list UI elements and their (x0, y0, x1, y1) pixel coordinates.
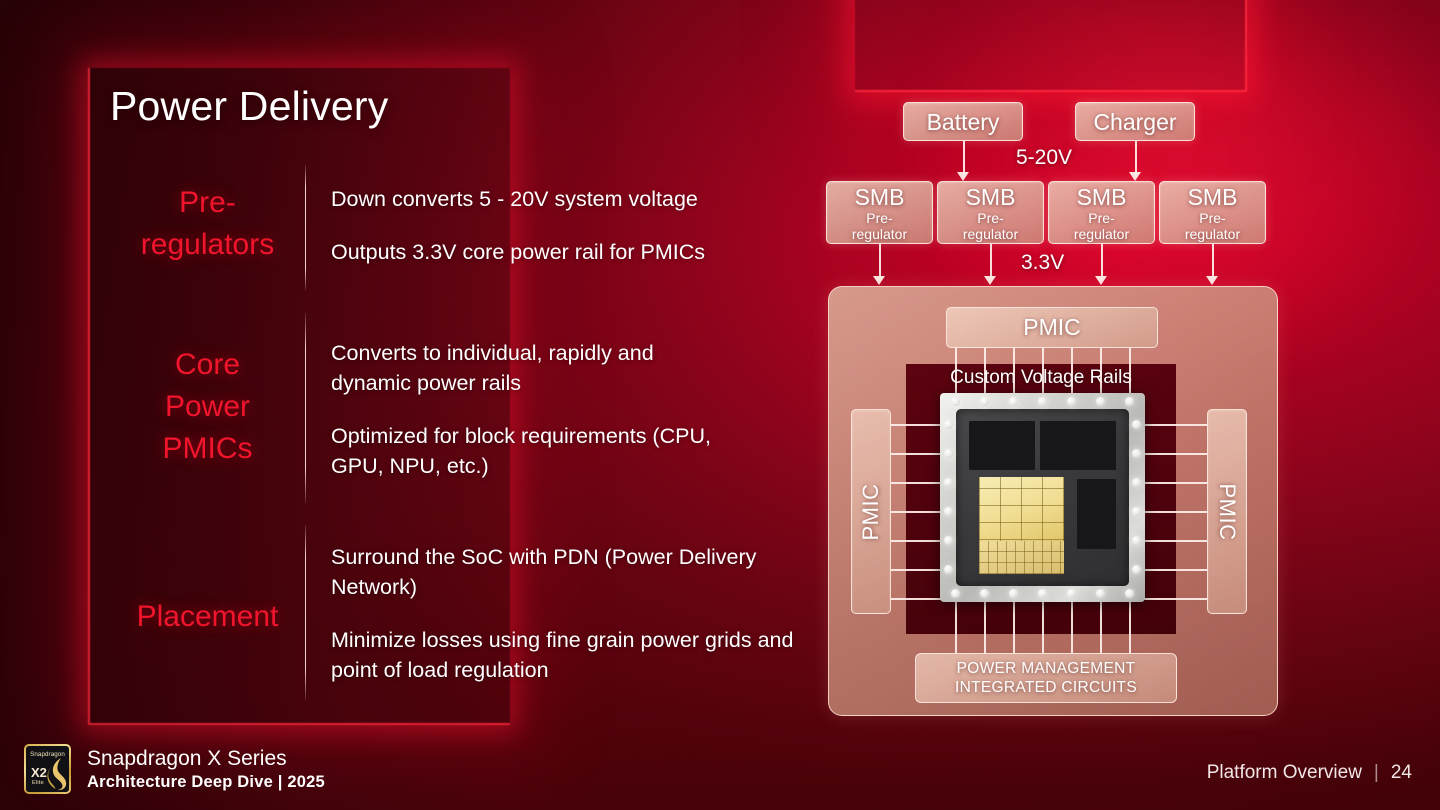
power-delivery-diagram: Battery Charger 5-20V SMB Pre-regulator … (818, 96, 1288, 716)
section-body-placement: Surround the SoC with PDN (Power Deliver… (331, 542, 796, 685)
soc-pad (1067, 589, 1076, 598)
rail-left-3 (891, 482, 947, 484)
soc-pad (951, 589, 960, 598)
arrow-battery-to-smb (957, 172, 969, 181)
bullet-text: Surround the SoC with PDN (Power Deliver… (331, 542, 796, 602)
rail-right-7 (1141, 598, 1207, 600)
wire-smb3-to-pkg (1101, 244, 1103, 278)
diagram-node-pmic-bottom: POWER MANAGEMENT INTEGRATED CIRCUITS (915, 653, 1177, 703)
soc-pad (1038, 397, 1047, 406)
voltage-label-output: 3.3V (1021, 251, 1064, 275)
soc-pad (944, 478, 953, 487)
dragon-flame-icon (45, 757, 67, 791)
soc-pad (944, 565, 953, 574)
logo-tier: Elite (32, 780, 44, 786)
soc-pad (1132, 449, 1141, 458)
soc-pad (980, 397, 989, 406)
slide-root: Power Delivery Pre-regulators Down conve… (0, 0, 1440, 810)
node-label: SMB (966, 184, 1016, 210)
bullet-text: Down converts 5 - 20V system voltage (331, 184, 801, 214)
arrow-smb1-to-pkg (873, 276, 885, 285)
brand-line-1: Snapdragon X Series (87, 746, 325, 771)
rail-bottom-2 (984, 596, 986, 654)
diagram-node-pmic-left: PMIC (851, 409, 891, 614)
soc-pad (944, 536, 953, 545)
soc-pad (944, 449, 953, 458)
footer-brand-text: Snapdragon X Series Architecture Deep Di… (87, 746, 325, 793)
diagram-node-pmic-top: PMIC (946, 307, 1158, 348)
rail-right-1 (1141, 424, 1207, 426)
rail-right-3 (1141, 482, 1207, 484)
die-block-gold-sub (979, 541, 1064, 574)
rail-right-2 (1141, 453, 1207, 455)
soc-pad (1125, 397, 1134, 406)
node-sublabel: Pre-regulator (1074, 210, 1129, 242)
diagram-node-smb-3: SMB Pre-regulator (1048, 181, 1155, 244)
rail-bottom-7 (1129, 596, 1131, 654)
diagram-node-smb-1: SMB Pre-regulator (826, 181, 933, 244)
brand-line-2: Architecture Deep Dive | 2025 (87, 771, 325, 793)
rail-bottom-5 (1071, 596, 1073, 654)
node-sublabel: Pre-regulator (963, 210, 1018, 242)
soc-pad (1125, 589, 1134, 598)
section-body-pre-regulators: Down converts 5 - 20V system voltage Out… (331, 184, 801, 267)
rail-right-5 (1141, 540, 1207, 542)
arrow-smb2-to-pkg (984, 276, 996, 285)
soc-pad (1009, 397, 1018, 406)
logo-inner: Snapdragon X2 Elite (26, 746, 69, 792)
die-block-npu (1077, 479, 1116, 549)
bullet-text: Outputs 3.3V core power rail for PMICs (331, 237, 801, 267)
section-body-core-power-pmics: Converts to individual, rapidly and dyna… (331, 338, 731, 481)
pmic-bottom-line1: POWER MANAGEMENT (957, 659, 1136, 678)
soc-pad (944, 507, 953, 516)
rail-right-4 (1141, 511, 1207, 513)
rail-left-2 (891, 453, 947, 455)
soc-pad (980, 589, 989, 598)
node-label: Charger (1093, 109, 1176, 135)
node-label: Battery (927, 109, 1000, 135)
soc-pad (1132, 565, 1141, 574)
soc-pad (951, 397, 960, 406)
soc-pad (1132, 420, 1141, 429)
soc-pad (1132, 507, 1141, 516)
arrow-charger-to-smb (1129, 172, 1141, 181)
die-block-cpu-cluster-2 (1040, 421, 1116, 470)
diagram-node-pmic-right: PMIC (1207, 409, 1247, 614)
soc-pad (1096, 397, 1105, 406)
rail-left-1 (891, 424, 947, 426)
bullet-text: Minimize losses using fine grain power g… (331, 625, 796, 685)
diagram-node-battery: Battery (903, 102, 1023, 141)
section-divider-3 (305, 525, 306, 700)
diagram-node-smb-2: SMB Pre-regulator (937, 181, 1044, 244)
section-divider-2 (305, 313, 306, 503)
soc-pad (1132, 536, 1141, 545)
rail-left-7 (891, 598, 947, 600)
section-label-placement: Placement (100, 596, 315, 638)
section-label-pre-regulators: Pre-regulators (100, 182, 315, 266)
arrow-smb3-to-pkg (1095, 276, 1107, 285)
soc-pad (944, 420, 953, 429)
soc-die (956, 409, 1129, 586)
node-label: PMIC (1214, 483, 1240, 540)
node-label: SMB (855, 184, 905, 210)
footer-separator: | (1374, 762, 1379, 784)
rail-left-5 (891, 540, 947, 542)
soc-pad (1132, 478, 1141, 487)
section-label-core-power-pmics: CorePowerPMICs (100, 344, 315, 470)
diagram-node-charger: Charger (1075, 102, 1195, 141)
rail-left-6 (891, 569, 947, 571)
custom-voltage-rails-label: Custom Voltage Rails (906, 367, 1176, 389)
wire-charger-to-smb (1135, 141, 1137, 175)
node-label: SMB (1188, 184, 1238, 210)
footer-section-name: Platform Overview (1207, 762, 1362, 784)
footer-brand: Snapdragon X2 Elite Snapdragon X Series … (24, 744, 325, 794)
page-number: 24 (1391, 762, 1412, 784)
rail-bottom-3 (1013, 596, 1015, 654)
soc-package (940, 393, 1145, 602)
diagram-node-smb-4: SMB Pre-regulator (1159, 181, 1266, 244)
rail-bottom-4 (1042, 596, 1044, 654)
bullet-text: Optimized for block requirements (CPU, G… (331, 421, 731, 481)
footer-meta: Platform Overview | 24 (1207, 762, 1412, 784)
wire-battery-to-smb (963, 141, 965, 175)
rail-left-4 (891, 511, 947, 513)
bullet-text: Converts to individual, rapidly and dyna… (331, 338, 731, 398)
node-sublabel: Pre-regulator (1185, 210, 1240, 242)
arrow-smb4-to-pkg (1206, 276, 1218, 285)
soc-pad (1067, 397, 1076, 406)
snapdragon-logo-icon: Snapdragon X2 Elite (24, 744, 71, 794)
rail-bottom-1 (955, 596, 957, 654)
section-divider-1 (305, 165, 306, 290)
voltage-label-input: 5-20V (1016, 146, 1072, 170)
node-label: PMIC (858, 483, 884, 540)
node-sublabel: Pre-regulator (852, 210, 907, 242)
pmic-bottom-line2: INTEGRATED CIRCUITS (955, 678, 1137, 697)
soc-pad (1009, 589, 1018, 598)
page-title: Power Delivery (110, 83, 389, 130)
soc-pad (1096, 589, 1105, 598)
soc-pad (1038, 589, 1047, 598)
rail-right-6 (1141, 569, 1207, 571)
die-block-cpu-cluster-1 (969, 421, 1035, 470)
wire-smb2-to-pkg (990, 244, 992, 278)
wire-smb1-to-pkg (879, 244, 881, 278)
wire-smb4-to-pkg (1212, 244, 1214, 278)
rail-bottom-6 (1100, 596, 1102, 654)
node-label: SMB (1077, 184, 1127, 210)
